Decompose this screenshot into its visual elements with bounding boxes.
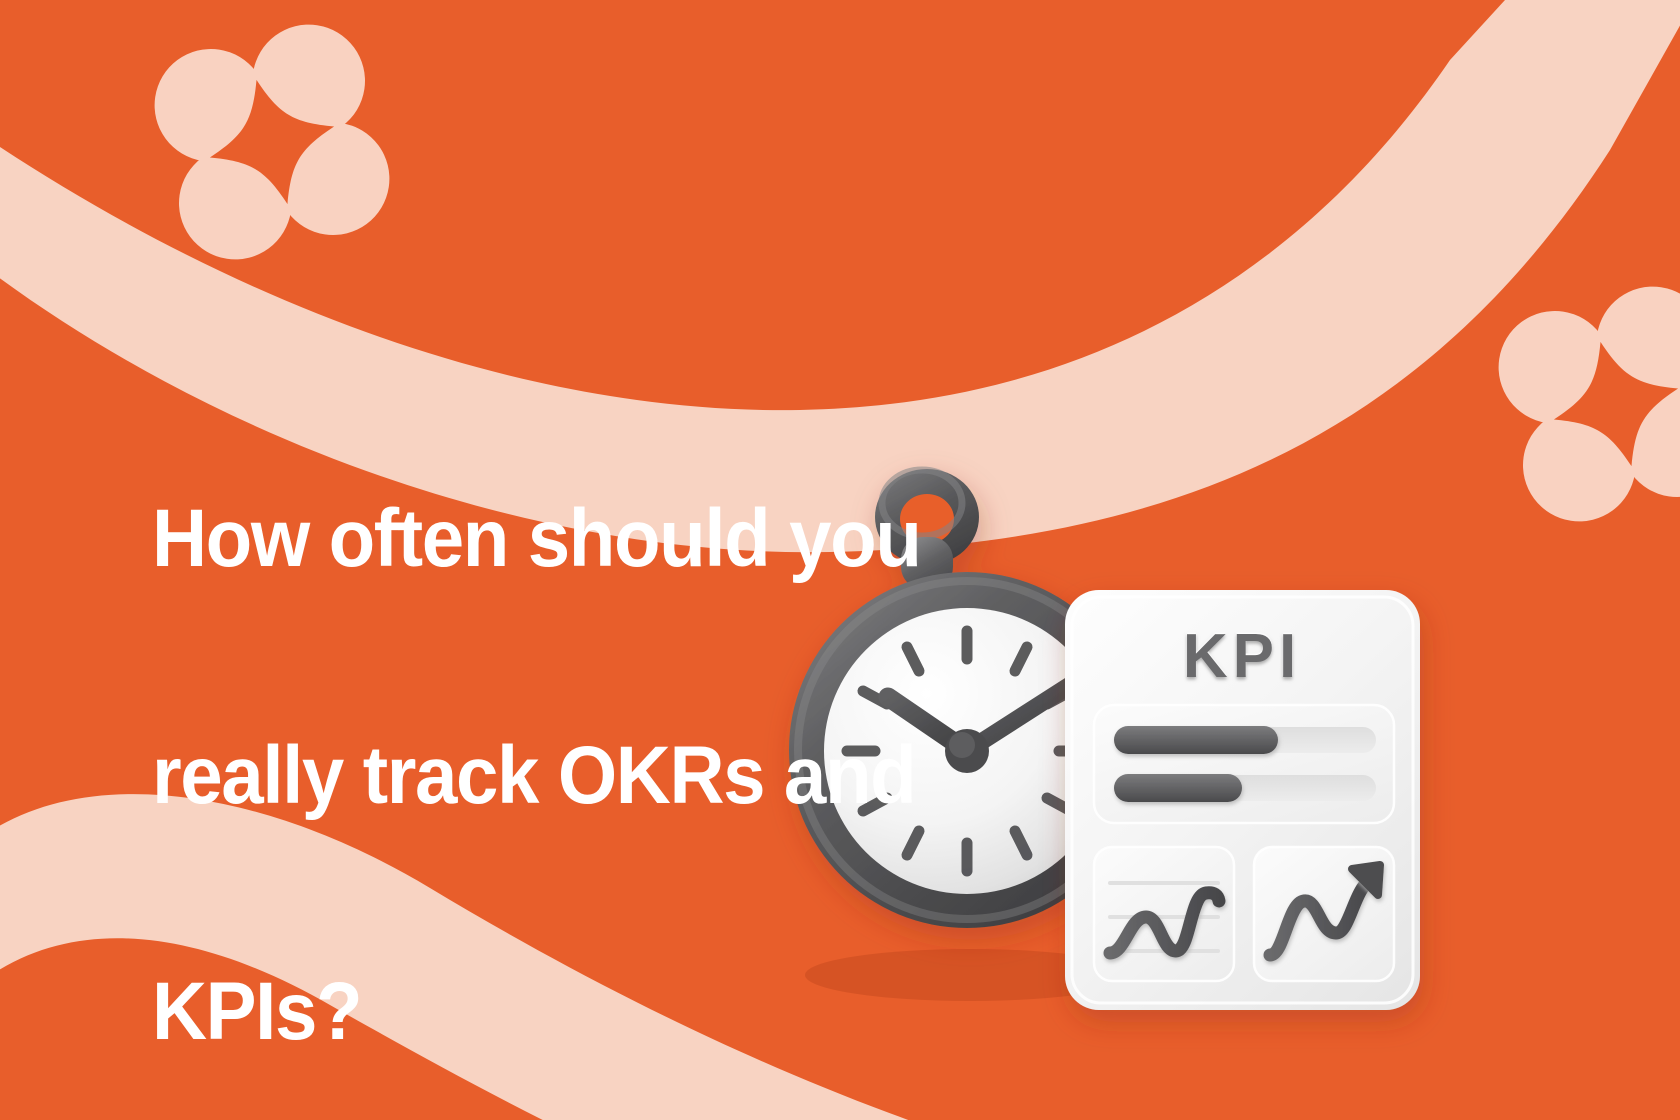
kpi-card: KPI KPI [1065, 562, 1420, 1010]
headline-line-2: really track OKRs and [152, 737, 1082, 816]
kpi-progress-row-1 [1114, 726, 1376, 754]
headline-line-1: How often should you [152, 500, 1082, 579]
headline-line-3: KPIs? [152, 973, 1082, 1052]
kpi-card-title-visual: KPI [1183, 622, 1301, 691]
poster-canvas: How often should you really track OKRs a… [0, 0, 1680, 1120]
kpi-progress-fill-1 [1114, 726, 1278, 754]
kpi-chart-panel-left [1094, 847, 1234, 981]
flower-top-left-icon [143, 13, 402, 272]
flower-right-icon [1487, 275, 1680, 534]
kpi-progress-row-2 [1114, 774, 1376, 802]
kpi-progress-fill-2 [1114, 774, 1242, 802]
page-title: How often should you really track OKRs a… [152, 343, 1082, 1120]
kpi-progress-panel [1094, 705, 1394, 823]
kpi-chart-panel-right [1254, 847, 1394, 981]
